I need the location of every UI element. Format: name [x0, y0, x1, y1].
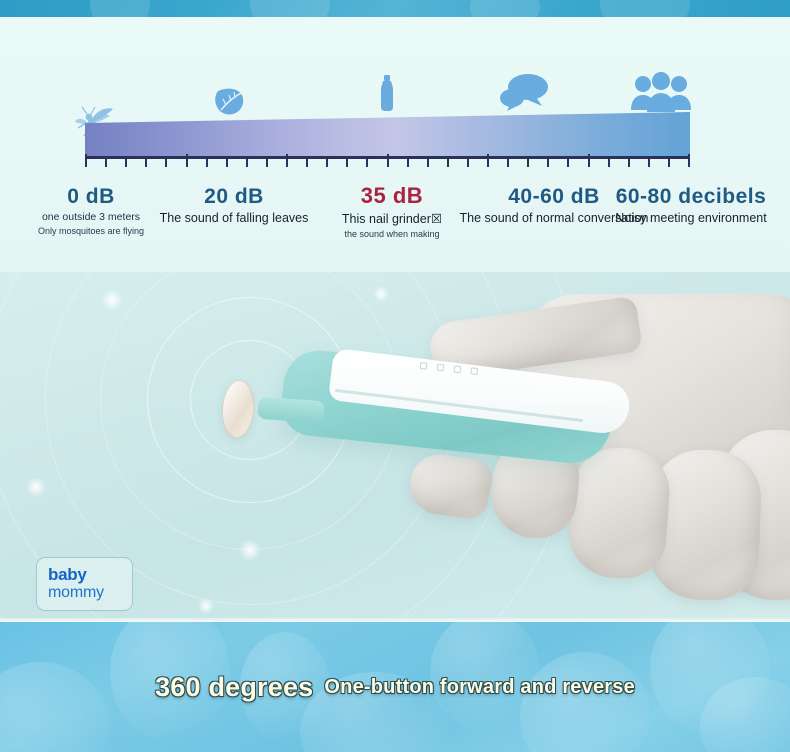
scale-tick: [105, 159, 107, 167]
strip-bubble: [250, 0, 330, 17]
scale-tick: [547, 159, 549, 167]
scale-tick: [326, 159, 328, 167]
scale-tick: [266, 159, 268, 167]
scale-tick: [668, 159, 670, 167]
db-value: 20 dB: [148, 185, 320, 209]
feature-banner: 360 degrees One-button forward and rever…: [0, 622, 790, 752]
product-detail-page: 0 dB one outside 3 meters Only mosquitoe…: [0, 0, 790, 752]
scale-tick: [286, 154, 288, 167]
gradient-fill: [85, 112, 690, 156]
scale-tick: [145, 159, 147, 167]
db-desc: The sound of falling leaves: [148, 211, 320, 225]
db-level-1: 20 dB The sound of falling leaves: [148, 185, 320, 228]
speech-bubble-icon: [498, 73, 554, 111]
scale-tick: [346, 159, 348, 167]
scale-tick: [588, 154, 590, 167]
brand-name-baby: baby: [48, 566, 132, 584]
scale-tick: [648, 159, 650, 167]
scale-tick: [628, 159, 630, 167]
device-neck: [257, 397, 324, 424]
top-accent-strip: [0, 0, 790, 17]
brand-name-mommy: mommy: [48, 584, 132, 602]
sparkle-dot: [101, 289, 123, 311]
people-group-icon: [630, 72, 692, 112]
db-sub: the sound when making: [309, 229, 475, 239]
scale-tick: [246, 159, 248, 167]
scale-tick: [427, 159, 429, 167]
db-level-4: 60-80 decibels Noisy meeting environment: [598, 185, 784, 228]
strip-bubble: [600, 0, 690, 17]
scale-tick: [527, 159, 529, 167]
scale-tick: [165, 159, 167, 167]
scale-tick: [487, 154, 489, 167]
scale-tick: [366, 159, 368, 167]
scale-tick: [125, 159, 127, 167]
scale-tick: [608, 159, 610, 167]
db-value: 60-80 decibels: [598, 185, 784, 209]
sparkle-dot: [26, 477, 46, 497]
banner-subheadline: One-button forward and reverse: [324, 676, 635, 699]
scale-tick: [186, 154, 188, 167]
banner-text-group: 360 degrees One-button forward and rever…: [0, 622, 790, 752]
scale-tick: [226, 159, 228, 167]
decibel-gradient-bar: [85, 112, 690, 167]
scale-tick: [688, 154, 690, 167]
banner-headline: 360 degrees: [155, 672, 313, 703]
decibel-scale-section: 0 dB one outside 3 meters Only mosquitoe…: [0, 17, 790, 272]
scale-tick: [507, 159, 509, 167]
scale-tick: [85, 154, 87, 167]
scale-tick: [407, 159, 409, 167]
nail-grinder-device: [222, 352, 722, 477]
grinder-bottle-icon: [377, 75, 397, 111]
indicator-mark: [420, 361, 428, 369]
brand-badge: baby mommy: [36, 557, 133, 611]
scale-tick: [447, 159, 449, 167]
scale-tick: [467, 159, 469, 167]
strip-bubble: [90, 0, 150, 17]
sparkle-dot: [239, 539, 261, 561]
db-desc: Noisy meeting environment: [598, 211, 784, 225]
scale-tick: [387, 154, 389, 167]
indicator-mark: [437, 363, 445, 371]
scale-ticks: [85, 153, 690, 167]
indicator-mark: [471, 367, 479, 375]
sparkle-dot: [373, 286, 389, 302]
sparkle-dot: [198, 598, 214, 614]
scale-tick: [206, 159, 208, 167]
scale-tick: [306, 159, 308, 167]
scale-tick: [567, 159, 569, 167]
strip-bubble: [470, 0, 540, 17]
grinder-head: [220, 379, 256, 439]
indicator-mark: [454, 365, 462, 373]
